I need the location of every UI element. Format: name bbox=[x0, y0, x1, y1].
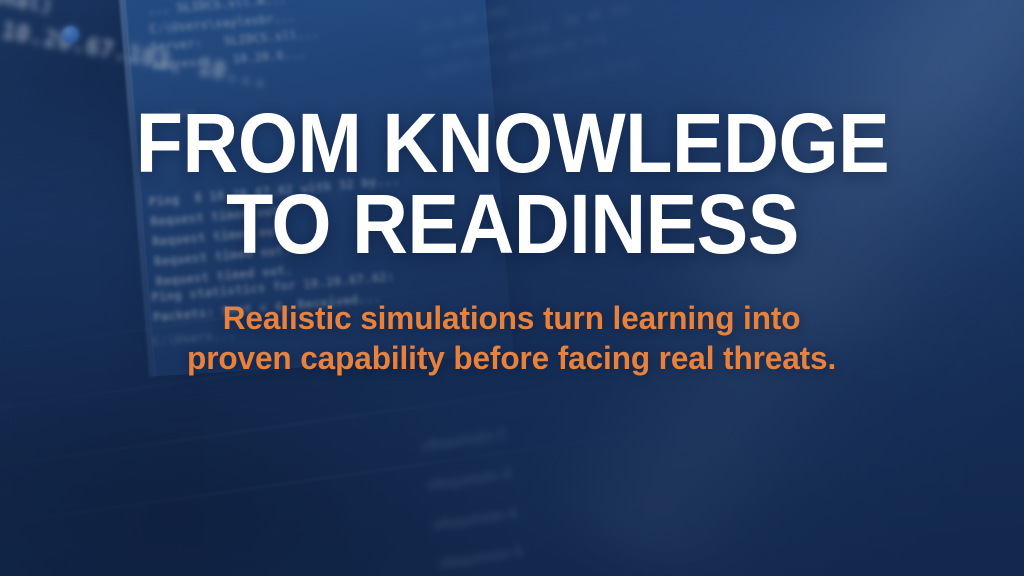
slide-content: FROM KNOWLEDGE TO READINESS Realistic si… bbox=[0, 0, 1024, 576]
slide: ional) , 10.20.67.103, 10... ... SLIDCS.… bbox=[0, 0, 1024, 576]
page-title: FROM KNOWLEDGE TO READINESS bbox=[135, 104, 888, 264]
headline-line-1: FROM KNOWLEDGE bbox=[135, 104, 888, 183]
subtitle-line-2: proven capability before facing real thr… bbox=[187, 338, 836, 378]
headline-line-2: TO READINESS bbox=[135, 185, 888, 264]
subtitle: Realistic simulations turn learning into… bbox=[187, 298, 836, 379]
subtitle-line-1: Realistic simulations turn learning into bbox=[187, 298, 836, 338]
